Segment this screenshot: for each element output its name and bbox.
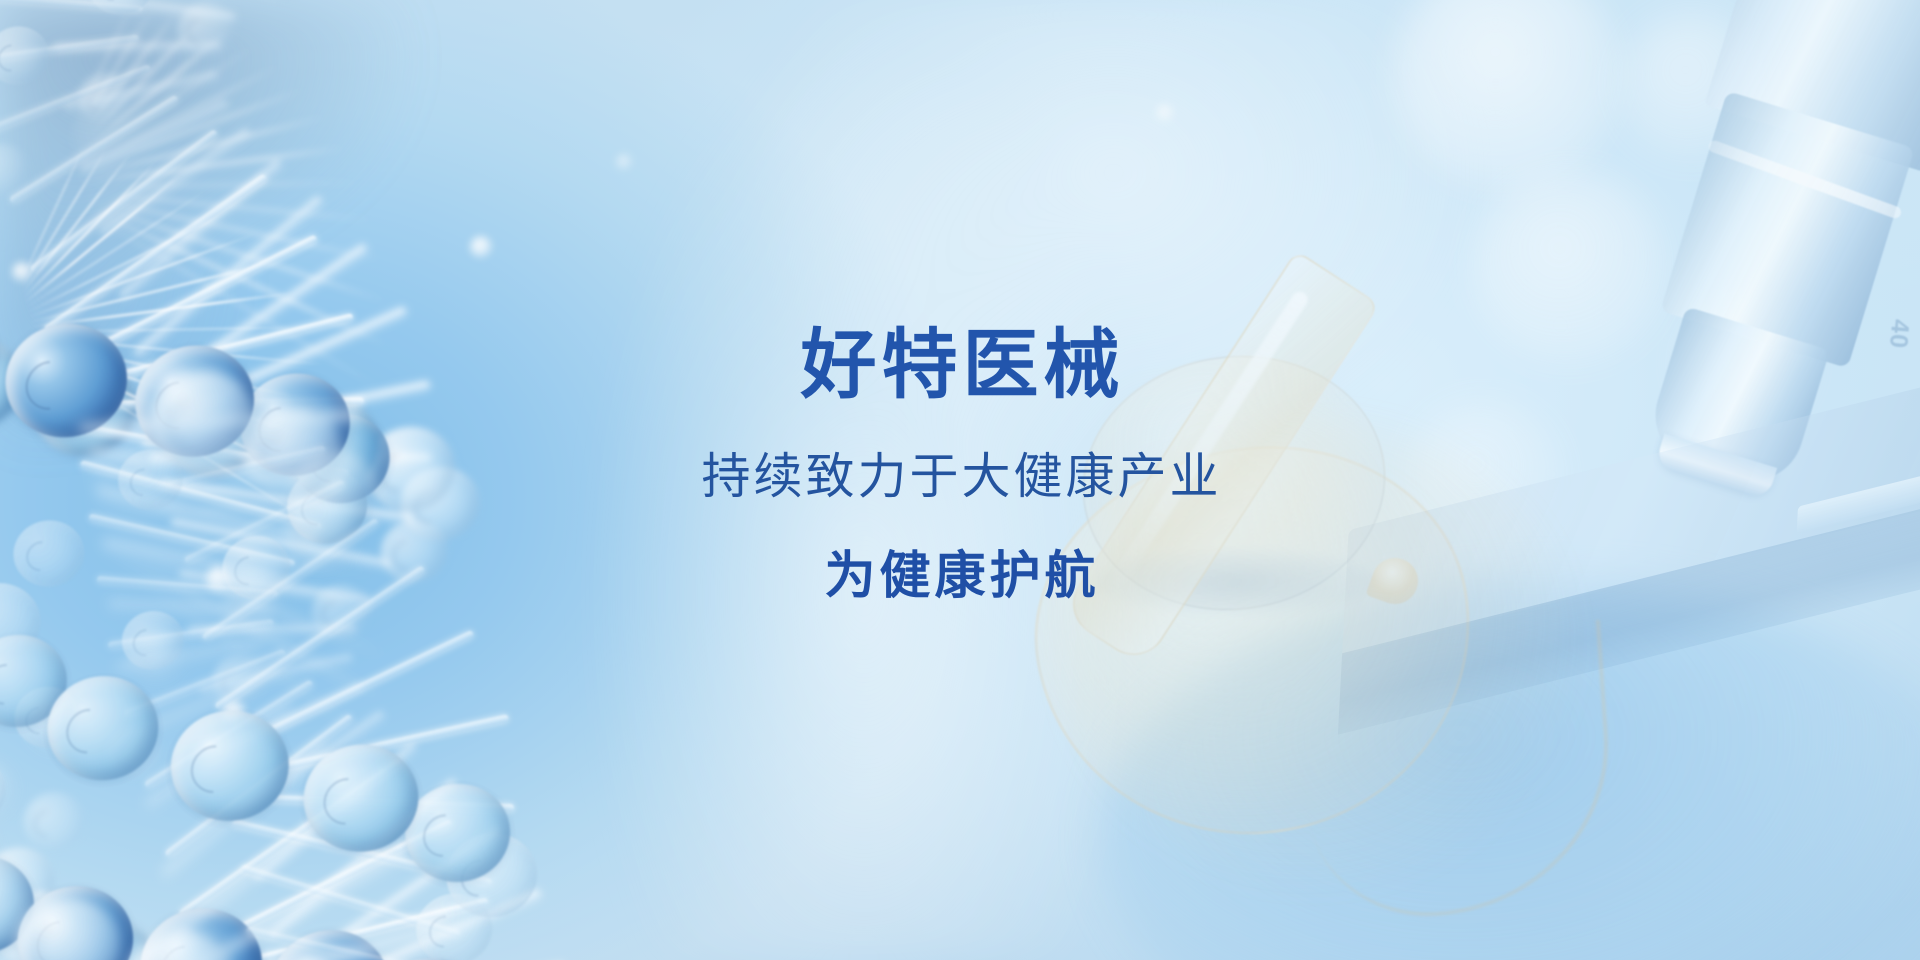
dna-nucleotide-bead [81,0,161,21]
company-name: 好特医械 [0,326,1920,407]
banner-copy: 好特医械 持续致力于大健康产业 为健康护航 [0,326,1920,605]
dna-nucleotide-bead [0,20,55,90]
hero-banner: 40 好特医械 持续致力于大健康产业 为健康护航 [0,0,1920,960]
bokeh-circle [1392,0,1622,190]
liquid-trail [1296,620,1619,925]
bokeh-speck [1156,104,1174,122]
dna-backbone-rod [246,926,433,960]
banner-subtitle: 持续致力于大健康产业 [0,451,1920,505]
dna-nucleotide-bead [163,702,296,829]
banner-tagline: 为健康护航 [0,548,1920,604]
